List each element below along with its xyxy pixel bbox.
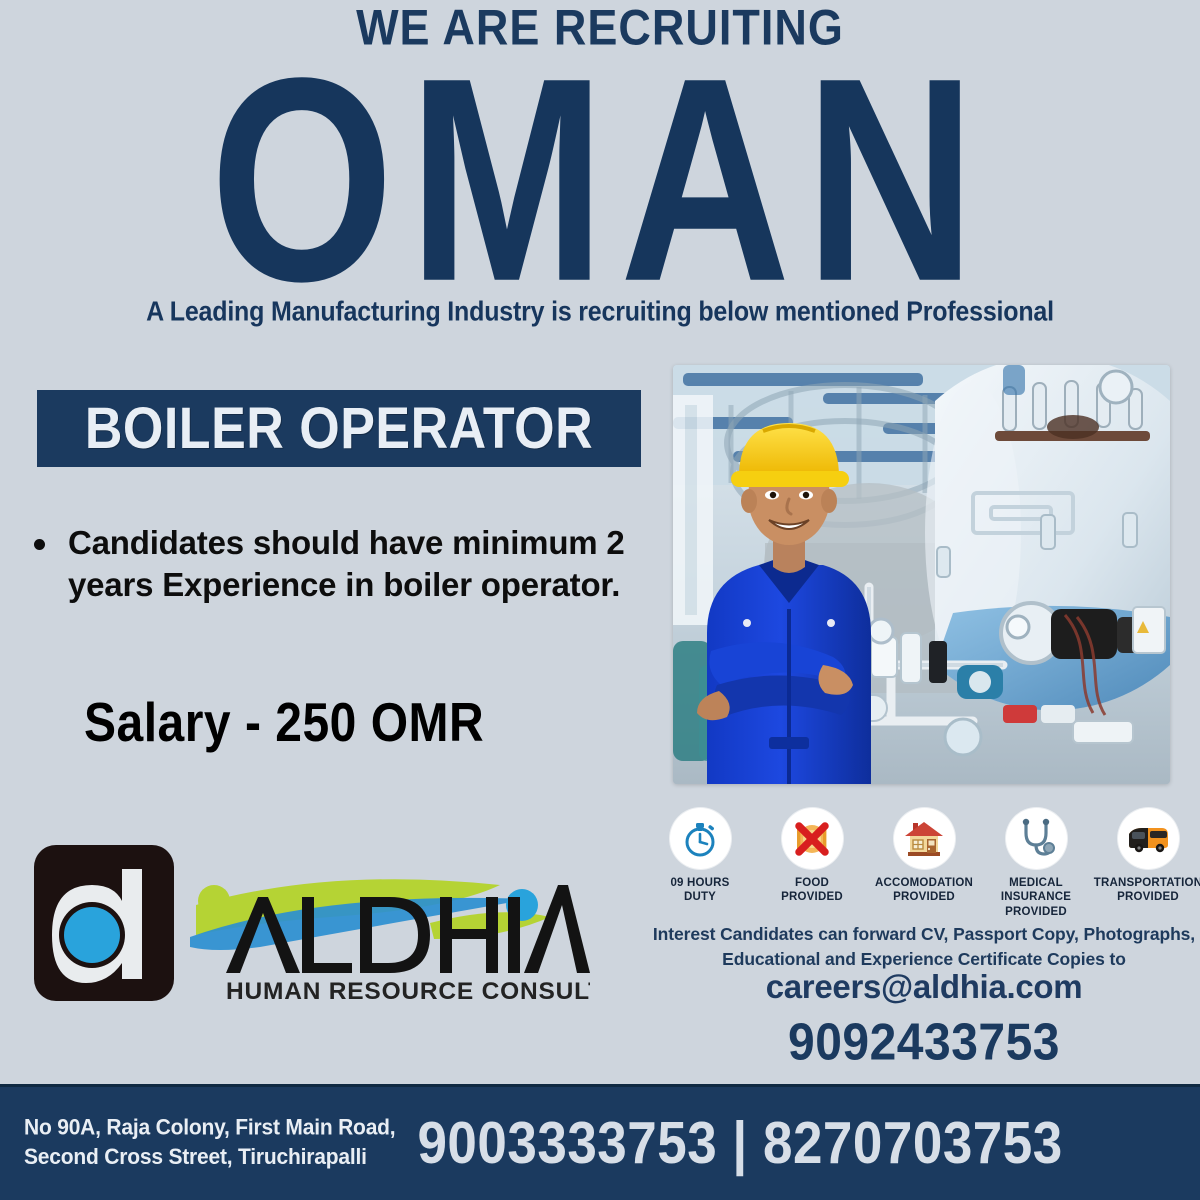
contact-instructions: Interest Candidates can forward CV, Pass… [648, 922, 1200, 972]
contact-phone[interactable]: 9092433753 [648, 1013, 1200, 1072]
poster-country-title: OMAN [0, 36, 1200, 326]
stethoscope-glyph [1016, 818, 1056, 860]
job-requirements-list: Candidates should have minimum 2 years E… [22, 522, 672, 606]
benefit-label: ACCOMODATION PROVIDED [875, 876, 973, 905]
benefit-item-transportation: TRANSPORTATION PROVIDED [1096, 808, 1200, 905]
salary-text: Salary - 250 OMR [84, 692, 484, 755]
list-item: Candidates should have minimum 2 years E… [22, 522, 672, 606]
benefit-item-medical: MEDICAL INSURANCE PROVIDED [984, 808, 1088, 919]
stopwatch-glyph [680, 819, 720, 859]
benefit-label: TRANSPORTATION PROVIDED [1094, 876, 1200, 905]
job-title-banner: BOILER OPERATOR [37, 390, 641, 467]
worker-photo [673, 365, 1170, 784]
benefit-item-food: FOOD PROVIDED [760, 808, 864, 905]
footer-phone-numbers[interactable]: 9003333753 | 8270703753 [417, 1109, 1062, 1177]
bullet-icon [34, 539, 45, 550]
house-glyph [903, 819, 945, 859]
aldhia-logo-svg: HUMAN RESOURCE CONSULTANTS [30, 843, 590, 1008]
benefits-row: 09 HOURS DUTY FOOD PROVIDED [648, 808, 1200, 919]
bus-icon [1118, 808, 1179, 869]
benefit-label: MEDICAL INSURANCE PROVIDED [1001, 876, 1071, 919]
benefit-item-hours: 09 HOURS DUTY [648, 808, 752, 905]
footer-address: No 90A, Raja Colony, First Main Road, Se… [24, 1113, 395, 1173]
benefit-label: FOOD PROVIDED [781, 876, 843, 905]
logo-tagline: HUMAN RESOURCE CONSULTANTS [226, 978, 590, 1005]
benefit-label: 09 HOURS DUTY [670, 876, 729, 905]
company-logo: HUMAN RESOURCE CONSULTANTS [30, 843, 590, 1008]
job-title-text: BOILER OPERATOR [85, 395, 593, 462]
worker-photo-illustration [673, 365, 1170, 784]
food-crossed-icon [782, 808, 843, 869]
stethoscope-icon [1006, 808, 1067, 869]
footer-bar: No 90A, Raja Colony, First Main Road, Se… [0, 1084, 1200, 1200]
food-crossed-glyph [791, 818, 833, 860]
requirement-text: Candidates should have minimum 2 years E… [68, 524, 625, 603]
recruitment-poster: WE ARE RECRUITING OMAN A Leading Manufac… [0, 0, 1200, 1200]
stopwatch-icon [670, 808, 731, 869]
contact-email[interactable]: careers@aldhia.com [648, 968, 1200, 1006]
house-icon [894, 808, 955, 869]
benefit-item-accommodation: ACCOMODATION PROVIDED [872, 808, 976, 905]
poster-subtitle: A Leading Manufacturing Industry is recr… [0, 296, 1200, 328]
bus-glyph [1126, 824, 1170, 854]
